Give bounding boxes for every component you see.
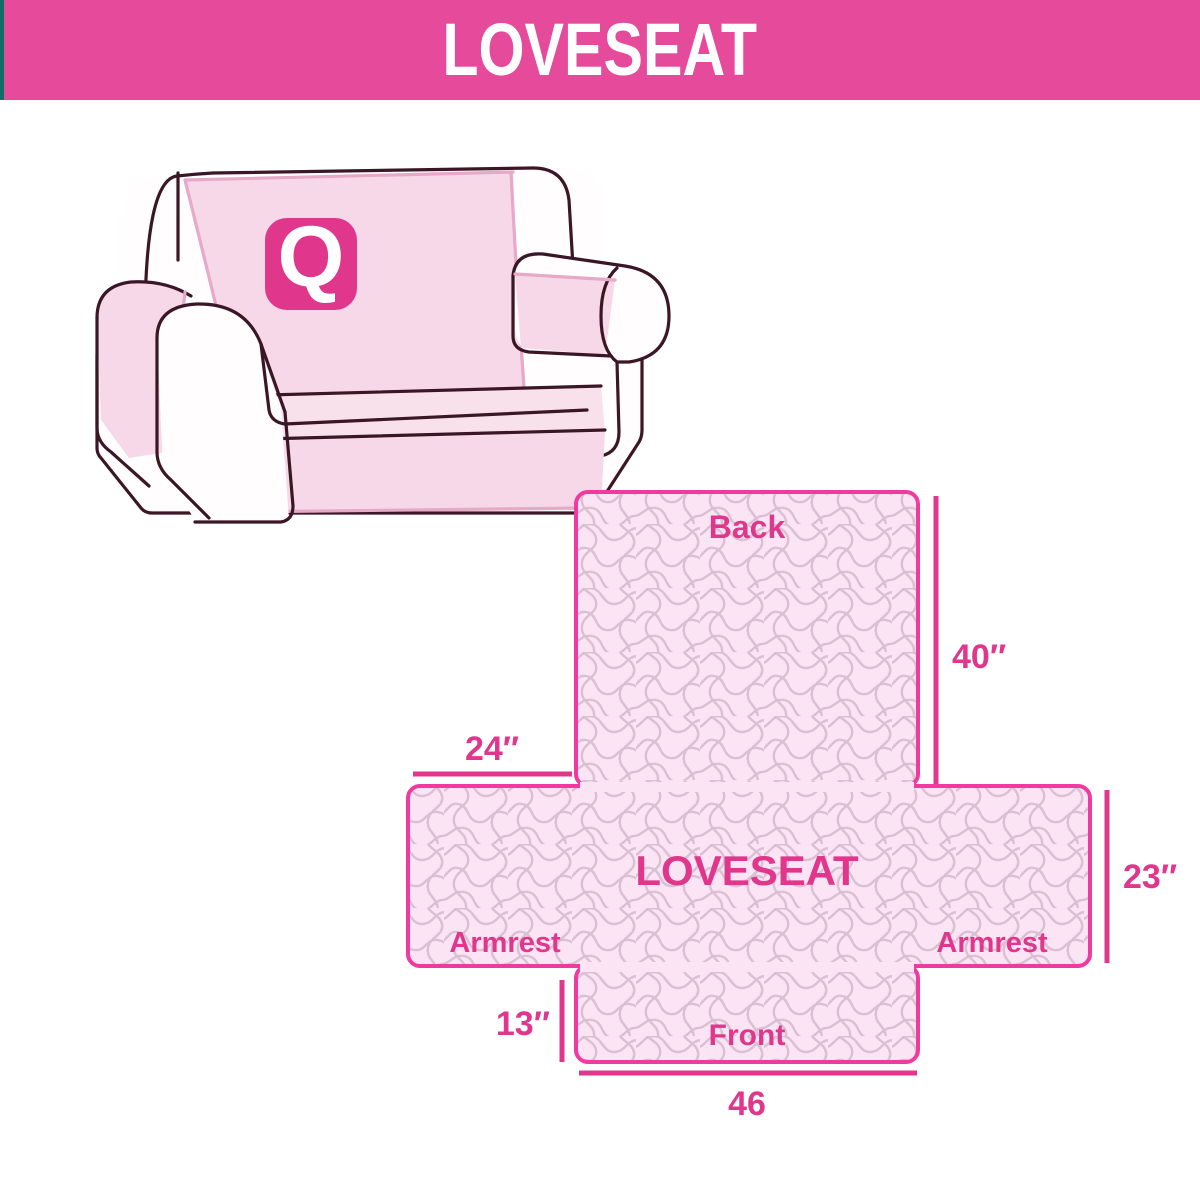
panel-back: Back [576,492,918,786]
panel-label-back: Back [709,509,786,545]
brand-logo-letter: Q [278,209,345,305]
panel-middle-band: LOVESEAT Armrest Armrest [408,786,1090,966]
dimension-value-13: 13″ [496,1005,550,1043]
panel-label-center: LOVESEAT [635,847,859,894]
dimension-center-height: 23″ [1107,790,1177,963]
size-chart-page: LOVESEAT .ln { fill:none; stroke:#3b1624… [0,0,1200,1200]
header-accent-strip [0,0,4,100]
seam-mask-bottom [580,962,914,972]
dimension-value-23: 23″ [1123,858,1177,896]
panel-front: Front [576,966,918,1062]
panel-label-front: Front [709,1019,786,1052]
panel-label-armrest-left: Armrest [449,927,561,959]
dimension-front-width: 46 [579,1073,917,1123]
dimension-value-24: 24″ [465,730,519,768]
brand-logo: Q [265,209,357,310]
header-banner: LOVESEAT [0,0,1200,100]
dimension-value-46: 46 [728,1085,766,1123]
panel-label-armrest-right: Armrest [936,927,1048,959]
dimension-armrest-width: 24″ [413,730,572,774]
dimension-front-height: 13″ [496,980,562,1062]
page-title: LOVESEAT [443,13,758,87]
seam-mask-top [580,782,914,792]
cover-layout-diagram: Back LOVESEAT Armrest Armrest Front 40″ … [380,460,1200,1140]
dimension-back-height: 40″ [936,496,1006,784]
dimension-value-40: 40″ [952,638,1006,676]
